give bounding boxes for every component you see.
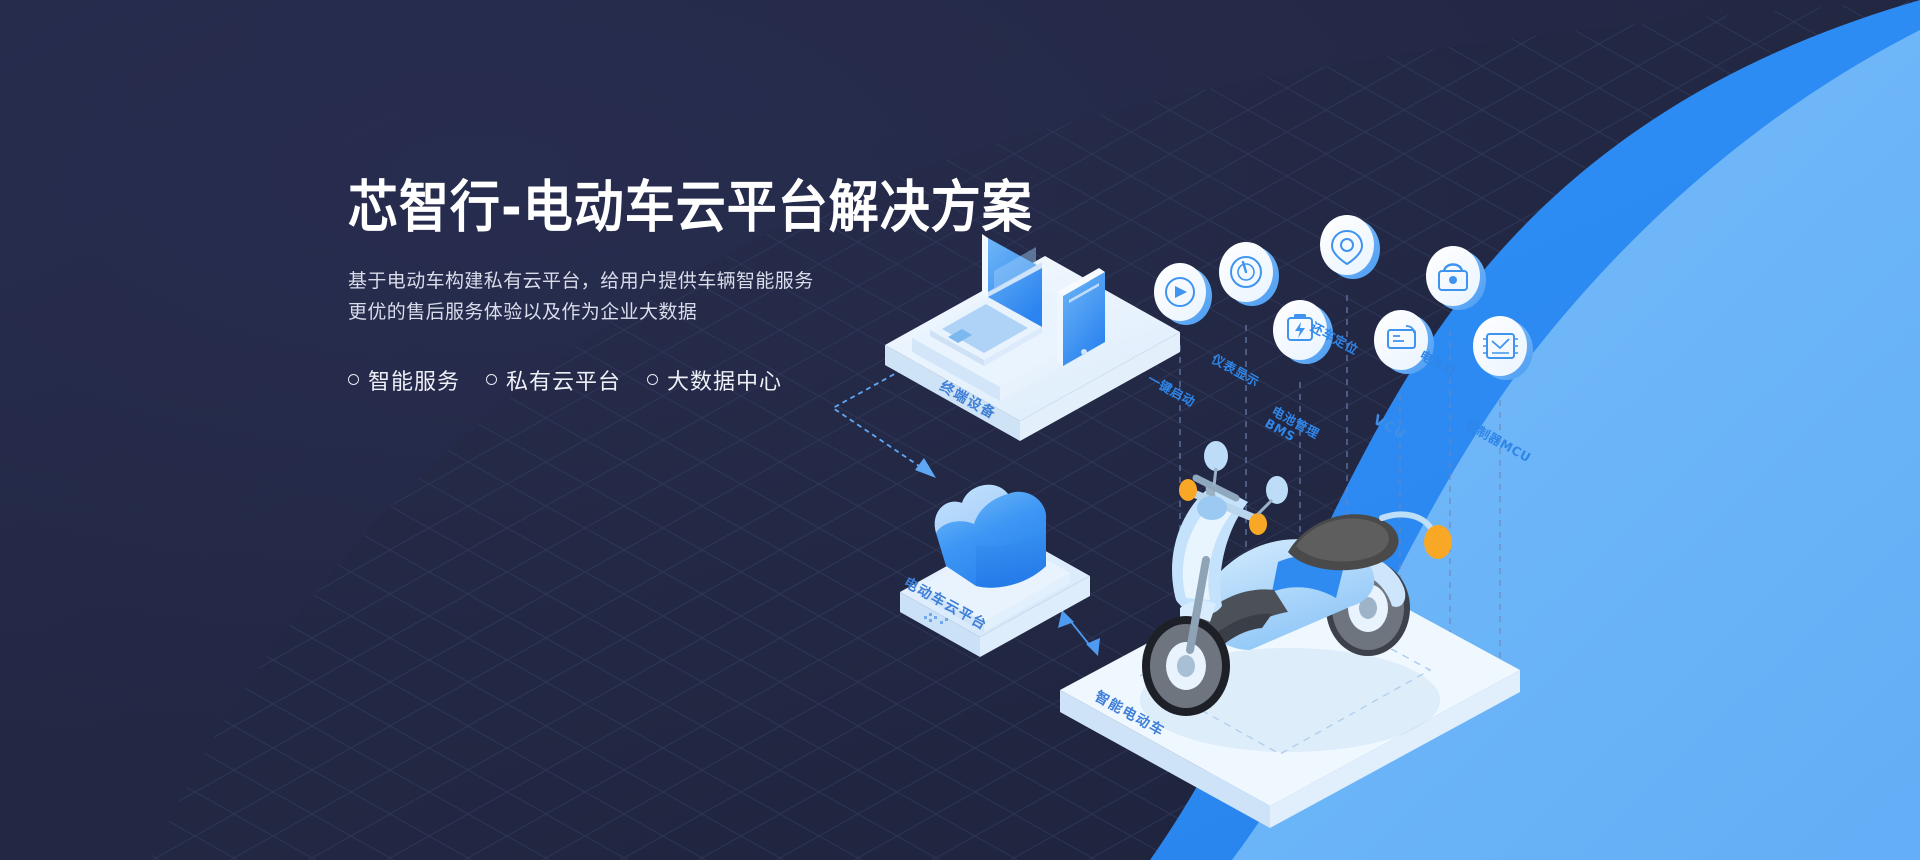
isometric-illustration [0,0,1920,860]
hero-banner: 芯智行-电动车云平台解决方案 基于电动车构建私有云平台，给用户提供车辆智能服务 … [0,0,1920,860]
feature-label: 智能服务 [368,364,460,396]
subtitle-line-1: 基于电动车构建私有云平台，给用户提供车辆智能服务 [348,266,1108,297]
feature-label: 私有云平台 [506,364,621,396]
hero-subtitle: 基于电动车构建私有云平台，给用户提供车辆智能服务 更优的售后服务体验以及作为企业… [348,266,1108,328]
hero-text-block: 芯智行-电动车云平台解决方案 基于电动车构建私有云平台，给用户提供车辆智能服务 … [348,176,1108,396]
feature-list: 智能服务 私有云平台 大数据中心 [348,364,1108,396]
coin-dashboard [1219,242,1279,306]
circle-outline-icon [647,374,658,385]
circle-outline-icon [348,374,359,385]
feature-label: 大数据中心 [667,364,782,396]
subtitle-line-2: 更优的售后服务体验以及作为企业大数据 [348,297,1108,328]
page-title: 芯智行-电动车云平台解决方案 [348,176,1108,239]
coin-location [1320,215,1380,279]
scooter-seat [1288,514,1399,570]
cloud-platform-group [900,485,1090,657]
front-wheel [1142,616,1230,716]
circle-outline-icon [486,374,497,385]
smart-scooter [1140,441,1452,752]
coin-controller-mcu [1473,316,1533,380]
coin-battery-lock [1426,246,1486,310]
feature-item-big-data-center[interactable]: 大数据中心 [647,364,782,396]
feature-item-private-cloud[interactable]: 私有云平台 [486,364,621,396]
coin-power [1154,263,1212,325]
feature-coins [1154,215,1533,380]
feature-item-smart-service[interactable]: 智能服务 [348,364,460,396]
